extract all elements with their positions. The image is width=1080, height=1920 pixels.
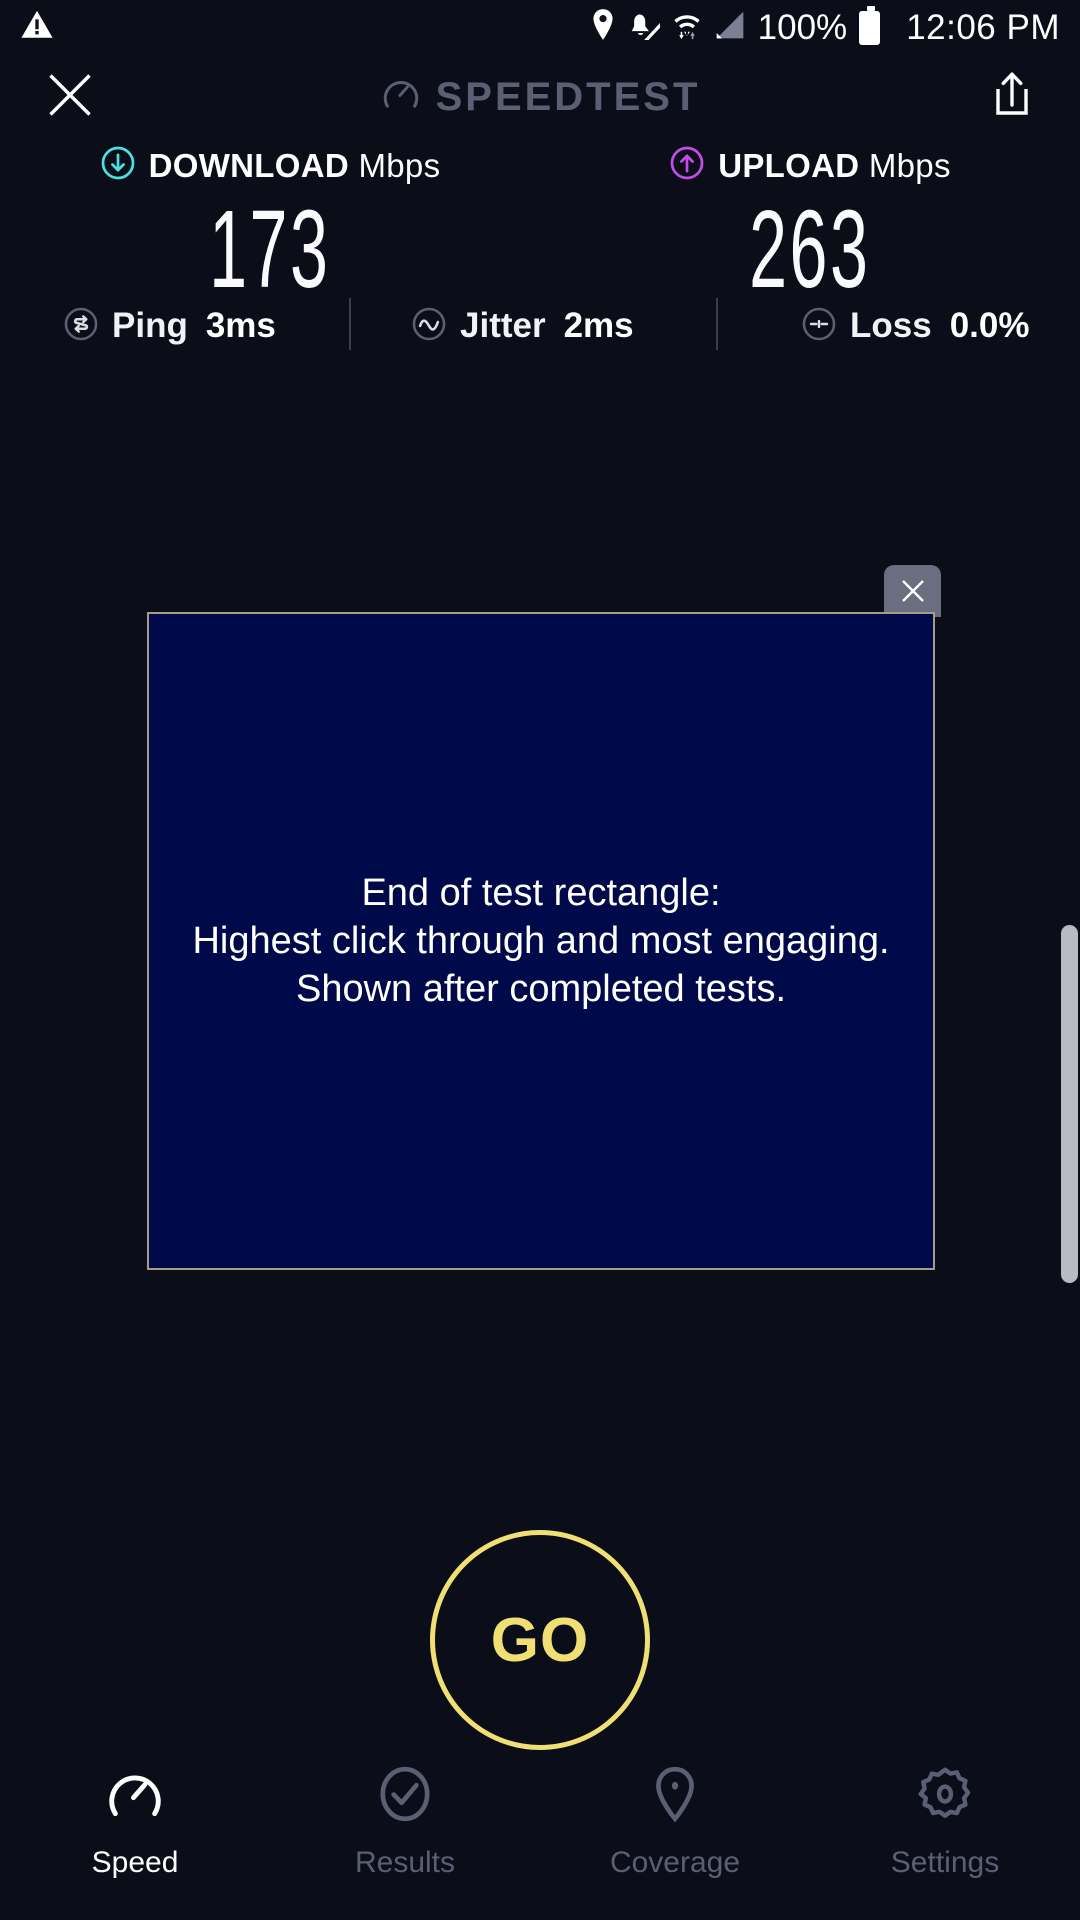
nav-item-settings[interactable]: Settings: [810, 1745, 1080, 1920]
close-button[interactable]: [44, 69, 96, 126]
ad-close-button[interactable]: [884, 565, 941, 617]
results-section: DOWNLOAD Mbps 173 UPLOAD Mbps 263: [0, 145, 1080, 306]
share-button[interactable]: [988, 69, 1036, 126]
nav-label-settings: Settings: [891, 1846, 999, 1880]
upload-label: UPLOAD Mbps: [718, 147, 951, 185]
ad-text: End of test rectangle: Highest click thr…: [192, 869, 889, 1013]
battery-percent-label: 100%: [758, 8, 848, 48]
nav-item-results[interactable]: Results: [270, 1745, 540, 1920]
page-title: SPEEDTEST: [0, 72, 1080, 124]
warning-triangle-icon: [20, 8, 54, 47]
nav-label-results: Results: [355, 1846, 455, 1880]
download-upload-row: DOWNLOAD Mbps 173 UPLOAD Mbps 263: [0, 145, 1080, 306]
go-button-label: GO: [491, 1605, 589, 1676]
arrow-up-circle-icon: [669, 145, 705, 186]
map-pin-icon: [644, 1763, 706, 1830]
speedometer-icon: [104, 1763, 166, 1830]
advertisement-banner[interactable]: End of test rectangle: Highest click thr…: [147, 612, 935, 1270]
nav-label-coverage: Coverage: [610, 1846, 740, 1880]
upload-result: UPLOAD Mbps 263: [540, 145, 1080, 306]
battery-full-icon: [859, 11, 880, 45]
loss-value: 0.0%: [950, 306, 1030, 346]
location-pin-icon: [590, 8, 616, 47]
ping-label: Ping: [112, 306, 188, 346]
metrics-row: Ping 3ms Jitter 2ms Loss 0.0%: [0, 300, 1080, 352]
check-circle-icon: [374, 1763, 436, 1830]
metric-jitter: Jitter 2ms: [410, 305, 634, 348]
upload-value: 263: [749, 194, 870, 306]
vertical-scrollbar[interactable]: [1061, 925, 1078, 1283]
loss-label: Loss: [850, 306, 932, 346]
arrow-down-circle-icon: [100, 145, 136, 186]
speedometer-icon: [380, 72, 422, 124]
app-title-label: SPEEDTEST: [436, 75, 701, 120]
download-value: 173: [209, 194, 330, 306]
nav-item-speed[interactable]: Speed: [0, 1745, 270, 1920]
bottom-navigation: Speed Results Coverage: [0, 1745, 1080, 1920]
download-label: DOWNLOAD Mbps: [149, 147, 441, 185]
jitter-label: Jitter: [460, 306, 546, 346]
jitter-value: 2ms: [564, 306, 634, 346]
status-bar-left: [20, 8, 54, 47]
upload-label-row: UPLOAD Mbps: [669, 145, 951, 186]
go-button[interactable]: GO: [430, 1530, 650, 1750]
wifi-icon: [672, 8, 702, 47]
nav-label-speed: Speed: [92, 1846, 179, 1880]
metric-ping: Ping 3ms: [62, 305, 276, 348]
download-result: DOWNLOAD Mbps 173: [0, 145, 540, 306]
ping-icon: [62, 305, 100, 348]
bell-muted-icon: [628, 10, 660, 45]
clock-label: 12:06 PM: [906, 8, 1060, 48]
jitter-icon: [410, 305, 448, 348]
status-bar: 100% 12:06 PM: [0, 0, 1080, 55]
ping-value: 3ms: [206, 306, 276, 346]
metric-loss: Loss 0.0%: [800, 305, 1029, 348]
speedtest-app-screen: 100% 12:06 PM SPEEDTEST: [0, 0, 1080, 1920]
status-bar-right: 100% 12:06 PM: [590, 8, 1060, 48]
cell-signal-icon: [714, 9, 746, 46]
app-header: SPEEDTEST: [0, 55, 1080, 140]
download-label-row: DOWNLOAD Mbps: [100, 145, 441, 186]
gear-icon: [914, 1763, 976, 1830]
nav-item-coverage[interactable]: Coverage: [540, 1745, 810, 1920]
loss-icon: [800, 305, 838, 348]
